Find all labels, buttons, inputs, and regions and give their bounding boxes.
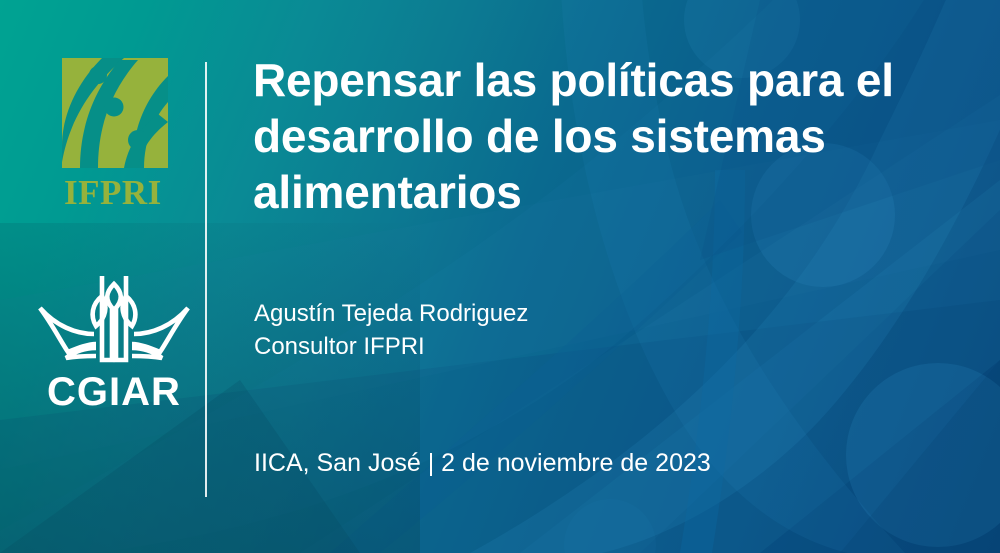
ifpri-wordmark: IFPRI: [62, 174, 168, 212]
cgiar-logo: CGIAR: [34, 256, 194, 414]
author-name: Agustín Tejeda Rodriguez: [254, 297, 874, 330]
title-slide: IFPRI CGI: [0, 0, 1000, 553]
vertical-divider: [205, 62, 207, 497]
ifpri-people-plant-icon: [62, 58, 168, 168]
author-block: Agustín Tejeda Rodriguez Consultor IFPRI: [254, 297, 874, 363]
ifpri-logo: IFPRI: [62, 58, 168, 213]
cgiar-wheat-wings-icon: [34, 256, 194, 368]
author-role: Consultor IFPRI: [254, 330, 874, 363]
cgiar-wordmark: CGIAR: [34, 370, 194, 414]
slide-title: Repensar las políticas para el desarroll…: [253, 52, 913, 220]
venue-and-date: IICA, San José | 2 de noviembre de 2023: [254, 447, 914, 479]
